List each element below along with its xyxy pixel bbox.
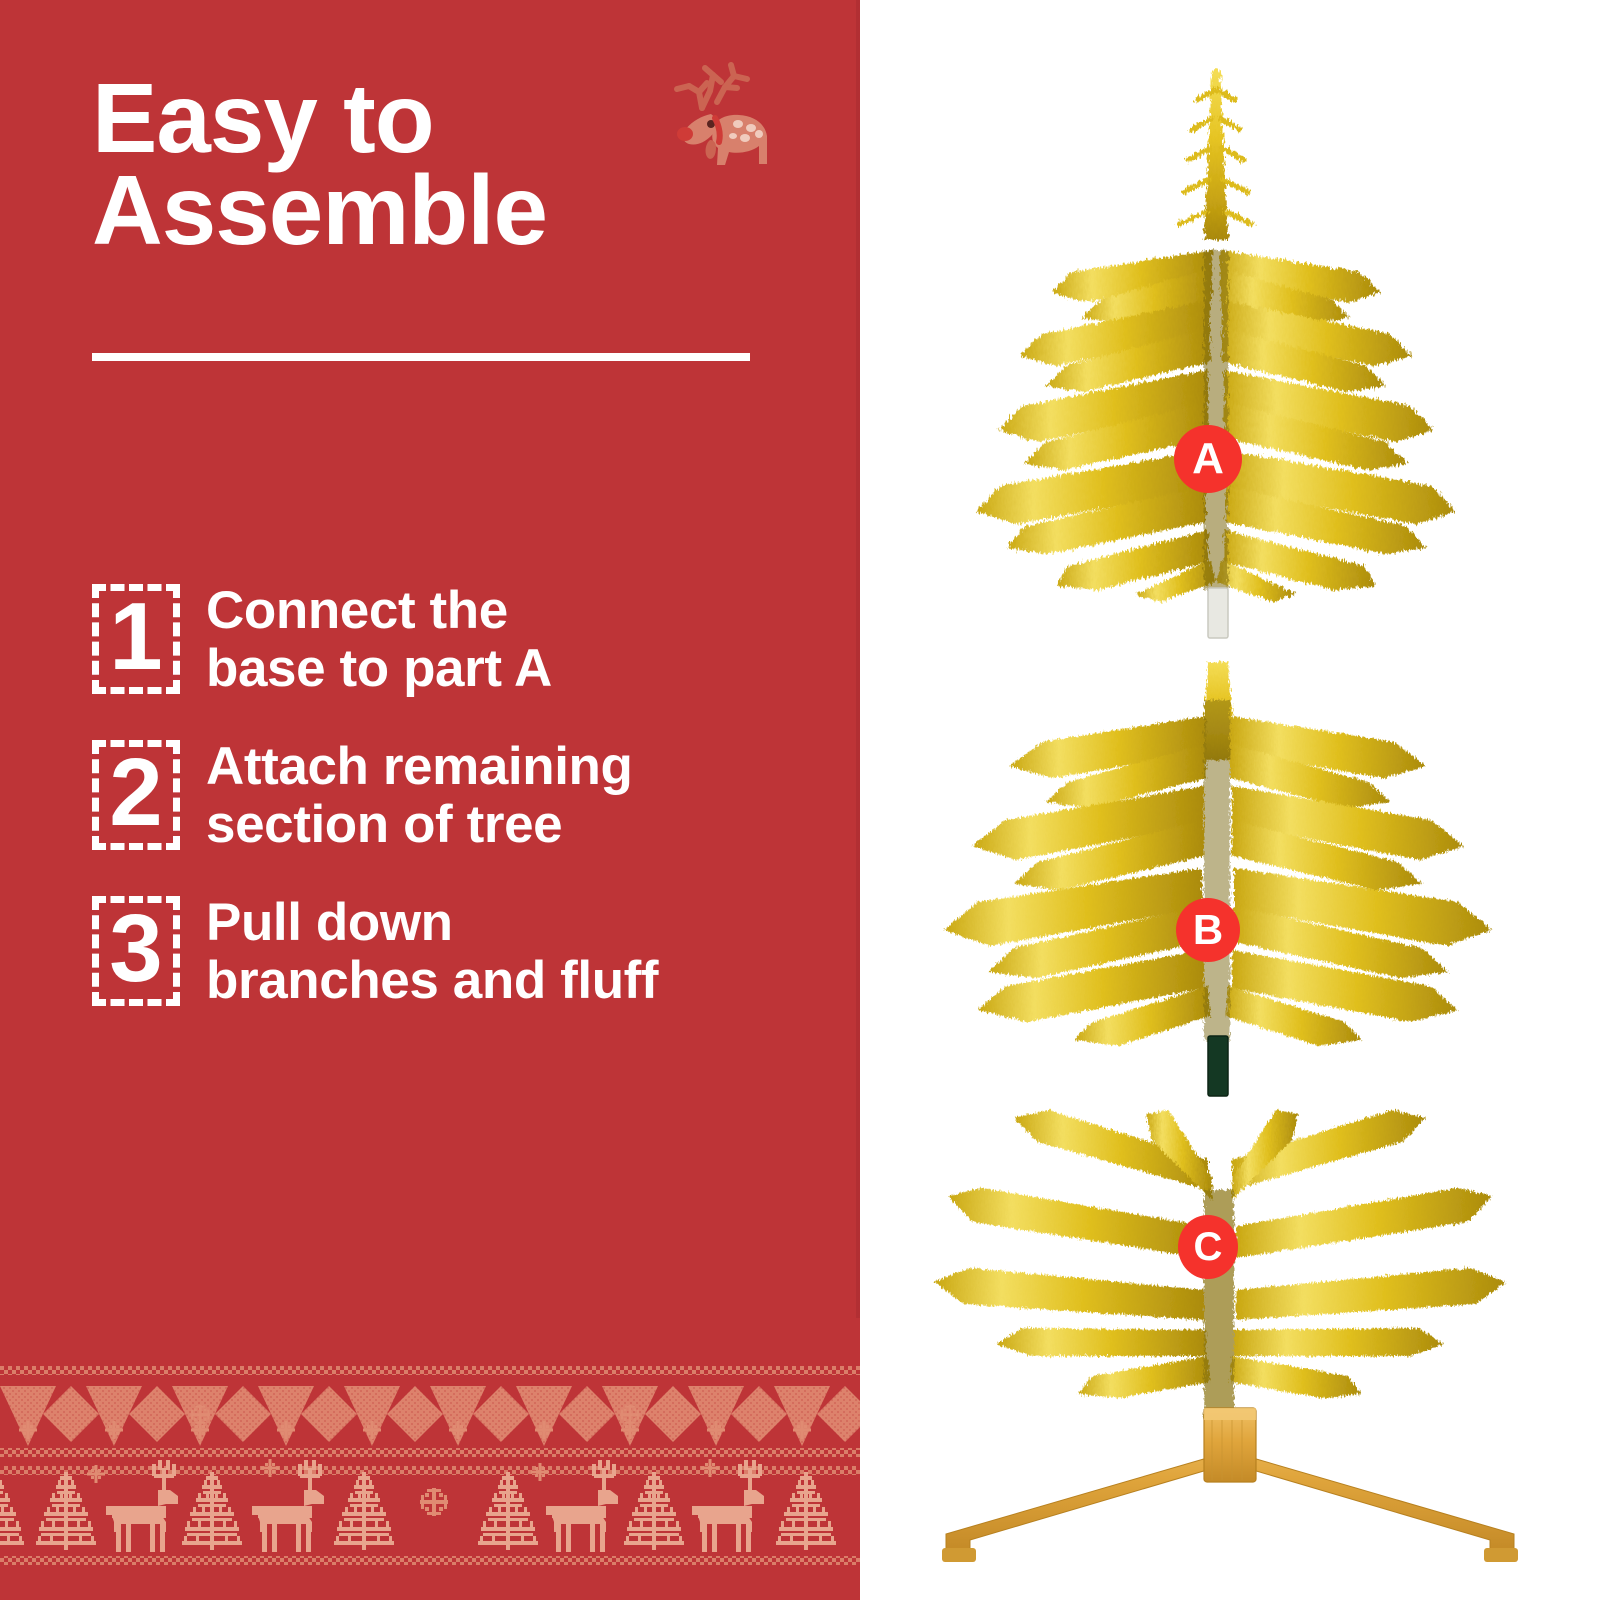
step-text: Pull down branches and fluff <box>206 890 658 1010</box>
step-number: 2 <box>109 745 162 841</box>
step-number-box: 2 <box>92 740 180 850</box>
title-divider <box>92 353 750 361</box>
reindeer-icon <box>655 62 775 187</box>
assembly-steps-list: 1 Connect the base to part A 2 Attach re… <box>92 578 832 1046</box>
step-text: Attach remaining section of tree <box>206 734 633 854</box>
knit-band-dots-2 <box>0 1448 860 1457</box>
connector-pole-a <box>1208 588 1228 638</box>
tree-section-b <box>944 662 1492 1046</box>
nordic-knit-pattern <box>0 1318 860 1600</box>
step-number-box: 3 <box>92 896 180 1006</box>
step-text-line-2: base to part A <box>206 640 552 698</box>
status-badge: C <box>1178 1215 1238 1279</box>
product-image: A B C <box>860 0 1600 1600</box>
step-number: 1 <box>109 589 162 685</box>
status-badge: A <box>1174 425 1242 493</box>
knit-pattern-svg <box>0 1318 860 1600</box>
knit-band-dots-1 <box>0 1366 860 1375</box>
christmas-tree-illustration <box>860 0 1600 1600</box>
connector-pole-b <box>1208 1036 1228 1096</box>
status-badge: B <box>1176 898 1240 962</box>
step-text-line-2: section of tree <box>206 796 633 854</box>
tree-section-a <box>976 70 1456 602</box>
step-number: 3 <box>109 901 162 997</box>
step-number-box: 1 <box>92 584 180 694</box>
knit-band-dots-3 <box>0 1466 860 1475</box>
step-text-line-1: Attach remaining <box>206 738 633 796</box>
step-text-line-1: Connect the <box>206 582 552 640</box>
knit-band-dots-4 <box>0 1556 860 1565</box>
tree-stand <box>942 1408 1518 1562</box>
info-panel: Easy to Assemble <box>0 0 860 1600</box>
step-text-line-2: branches and fluff <box>206 952 658 1010</box>
step-text-line-1: Pull down <box>206 894 658 952</box>
list-item: 3 Pull down branches and fluff <box>92 890 832 1010</box>
list-item: 2 Attach remaining section of tree <box>92 734 832 854</box>
list-item: 1 Connect the base to part A <box>92 578 832 698</box>
step-text: Connect the base to part A <box>206 578 552 698</box>
